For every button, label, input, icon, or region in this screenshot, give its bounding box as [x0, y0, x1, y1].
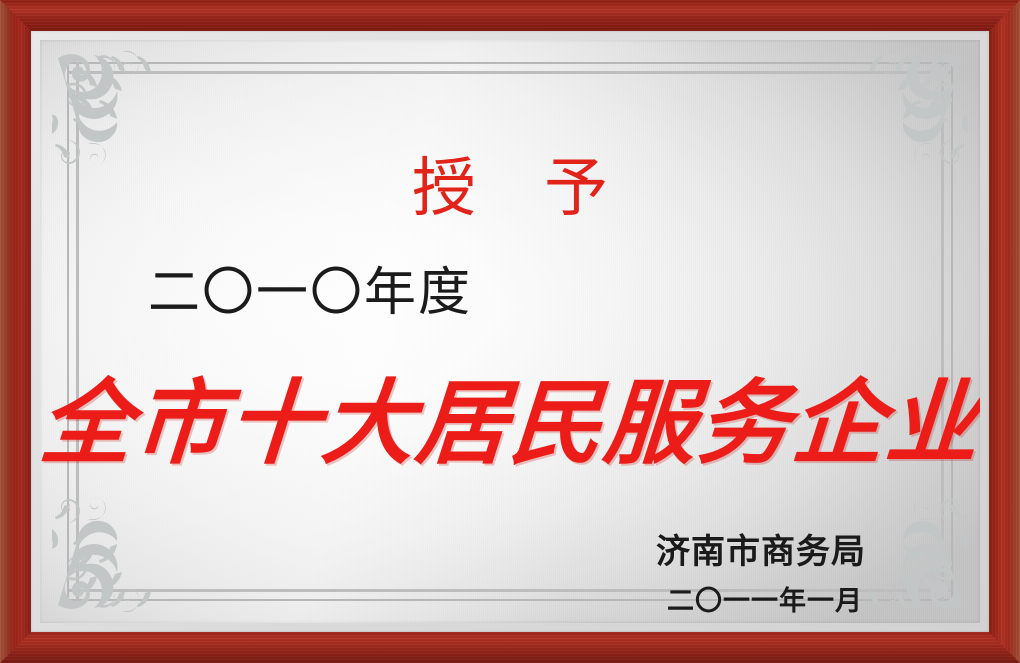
award-verb-text: 授 予: [40, 157, 980, 221]
frame-rail-top: [0, 0, 1020, 31]
wood-grain-texture: [0, 0, 1020, 31]
award-title-text: 全市十大居民服务企业: [40, 376, 980, 473]
wood-grain-texture: [0, 632, 1020, 663]
award-plaque: 授 予 二〇一〇年度 全市十大居民服务企业 济南市商务局 二〇一一年一月: [0, 0, 1020, 663]
frame-rail-right: [989, 0, 1020, 663]
metal-plate: 授 予 二〇一〇年度 全市十大居民服务企业 济南市商务局 二〇一一年一月: [40, 40, 980, 623]
issuer-name-text: 济南市商务局: [656, 535, 866, 569]
frame-rail-left: [0, 0, 31, 663]
issue-date-text: 二〇一一年一月: [667, 588, 863, 615]
frame-rail-bottom: [0, 632, 1020, 663]
award-year-text: 二〇一〇年度: [148, 268, 472, 320]
wood-grain-texture: [989, 0, 1020, 663]
plaque-content: 授 予 二〇一〇年度 全市十大居民服务企业 济南市商务局 二〇一一年一月: [40, 40, 980, 623]
wood-grain-texture: [0, 0, 31, 663]
